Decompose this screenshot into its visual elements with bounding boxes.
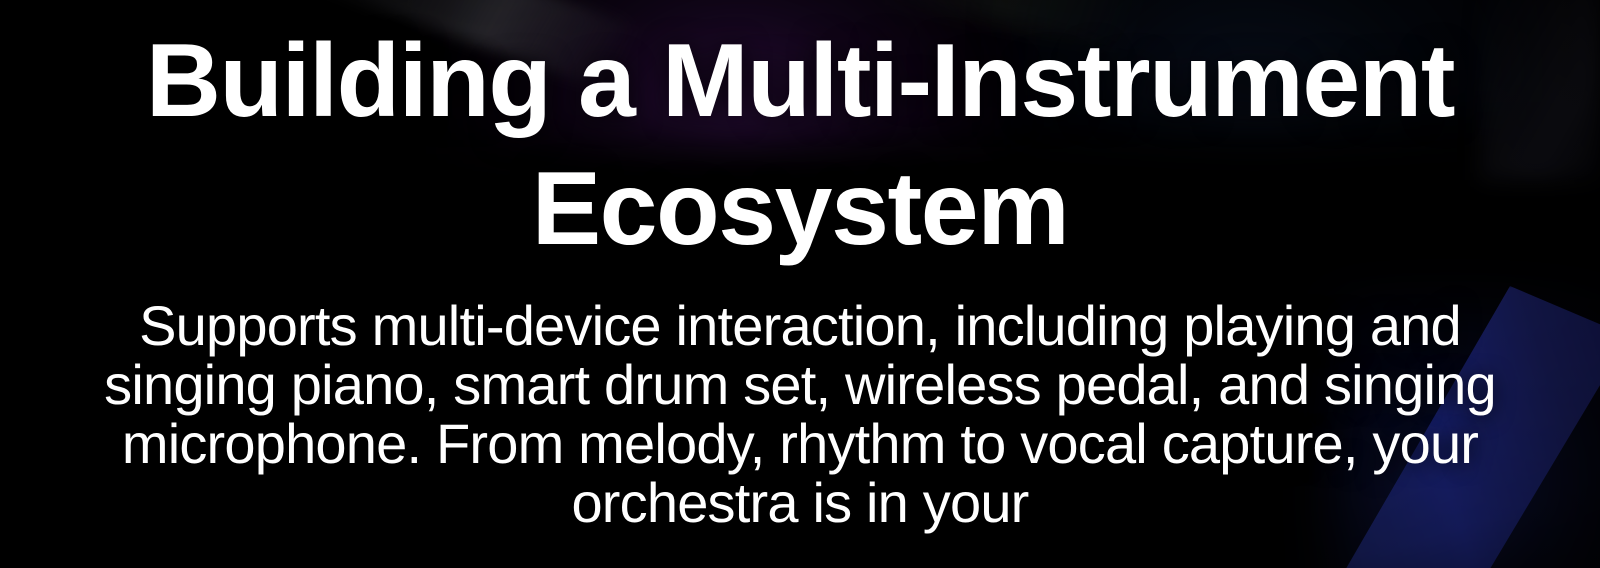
slide-subtitle: Supports multi-device interaction, inclu…	[85, 274, 1515, 532]
slide-title: Building a Multi-Instrument Ecosystem	[50, 0, 1550, 274]
slide-content: Building a Multi-Instrument Ecosystem Su…	[0, 0, 1600, 568]
hero-slide: Building a Multi-Instrument Ecosystem Su…	[0, 0, 1600, 568]
